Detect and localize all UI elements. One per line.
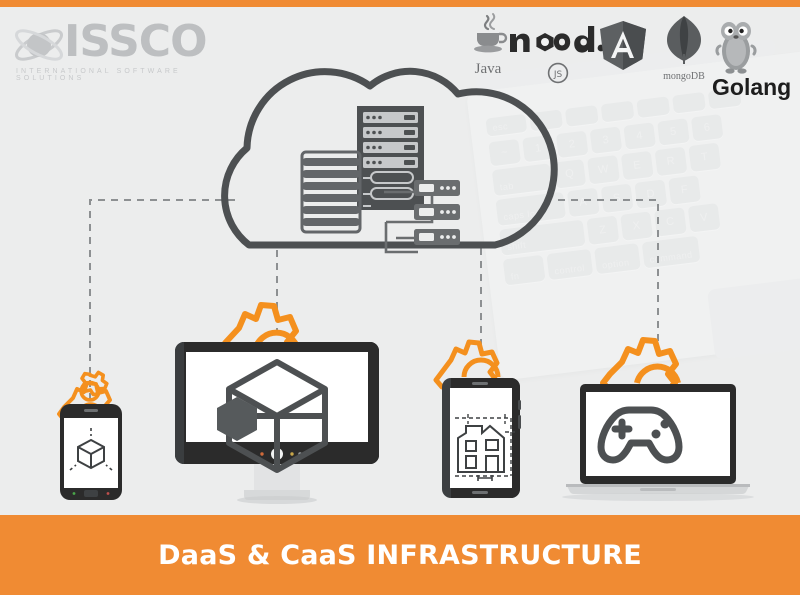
network-node-icon [414,229,460,245]
server-rack-icon [357,106,424,210]
mongodb-leaf-icon [662,14,706,66]
nodejs-js-badge-icon: JS [545,61,571,85]
network-node-icon [414,180,460,196]
logo-tagline: INTERNATIONAL SOFTWARE SOLUTIONS [16,68,228,82]
bottom-banner: DaaS & CaaS INFRASTRUCTURE [0,515,800,595]
tech-logo-mongodb: mongoDB [652,14,716,82]
network-nodes-group [384,180,460,252]
banner-title: DaaS & CaaS INFRASTRUCTURE [158,540,642,571]
tech-logo-golang: Golang [712,18,800,101]
tech-label-golang: Golang [712,74,791,100]
tech-label-mongodb: mongoDB [652,71,716,82]
issco-logo: ISSCO INTERNATIONAL SOFTWARE SOLUTIONS [8,14,228,76]
laptop-device[interactable] [562,340,754,501]
tech-logo-angular [590,18,656,81]
desktop-monitor-device[interactable] [175,305,379,504]
poster-canvas: esc ~ 1 2 3 4 5 6 tab Q W E R T caps loc… [0,0,800,595]
top-accent-bar [0,0,800,7]
connector-cloud-to-laptop [558,200,658,355]
database-disks-icon [302,152,360,232]
golang-gopher-icon [712,18,760,74]
orbit-planet-x-icon [10,22,68,68]
network-node-icon [414,204,460,220]
smartphone-device[interactable] [59,372,122,500]
svg-text:JS: JS [553,70,563,80]
tablet-device[interactable] [436,342,521,498]
gear-ring [603,340,678,391]
logo-wordmark: ISSCO [64,20,206,64]
angular-shield-icon [594,18,652,76]
